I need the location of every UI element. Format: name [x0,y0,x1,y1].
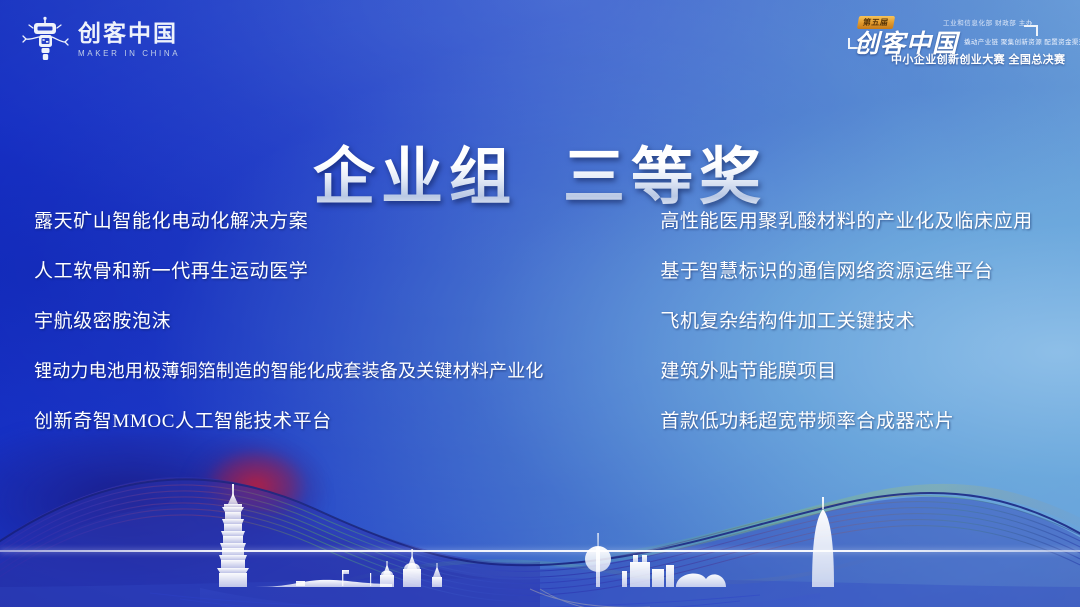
award-slide: 创客中国 MAKER IN CHINA 第五届 工业和信息化部 财政部 主办 创… [0,0,1080,607]
list-item: 锂动力电池用极薄铜箔制造的智能化成套装备及关键材料产业化 [34,346,644,396]
list-item: 首款低功耗超宽带频率合成器芯片 [660,396,1080,446]
maker-robot-icon [22,16,70,64]
logo-cn-name: 创客中国 [78,22,180,45]
list-item: 建筑外贴节能膜项目 [660,346,1080,396]
list-item: 人工软骨和新一代再生运动医学 [34,246,644,296]
award-list-right: 高性能医用聚乳酸材料的产业化及临床应用 基于智慧标识的通信网络资源运维平台 飞机… [644,196,1080,446]
logo-en-name: MAKER IN CHINA [78,50,180,58]
list-item: 高性能医用聚乳酸材料的产业化及临床应用 [660,196,1080,246]
competition-tagline: 撬动产业链 聚集创新资源 配置资金渠道 [964,36,1080,46]
award-lists: 露天矿山智能化电动化解决方案 人工软骨和新一代再生运动医学 宇航级密胺泡沫 锂动… [0,196,1080,446]
list-item: 宇航级密胺泡沫 [34,296,644,346]
maker-in-china-logo: 创客中国 MAKER IN CHINA [22,16,180,64]
competition-logo: 第五届 工业和信息化部 财政部 主办 创客中国 撬动产业链 聚集创新资源 配置资… [836,8,1066,70]
list-item: 飞机复杂结构件加工关键技术 [660,296,1080,346]
list-item: 创新奇智MMOC人工智能技术平台 [34,396,644,446]
list-item: 露天矿山智能化电动化解决方案 [34,196,644,246]
competition-subtitle: 中小企业创新创业大赛 全国总决赛 [891,51,1065,67]
list-item: 基于智慧标识的通信网络资源运维平台 [660,246,1080,296]
award-list-left: 露天矿山智能化电动化解决方案 人工软骨和新一代再生运动医学 宇航级密胺泡沫 锂动… [0,196,644,446]
